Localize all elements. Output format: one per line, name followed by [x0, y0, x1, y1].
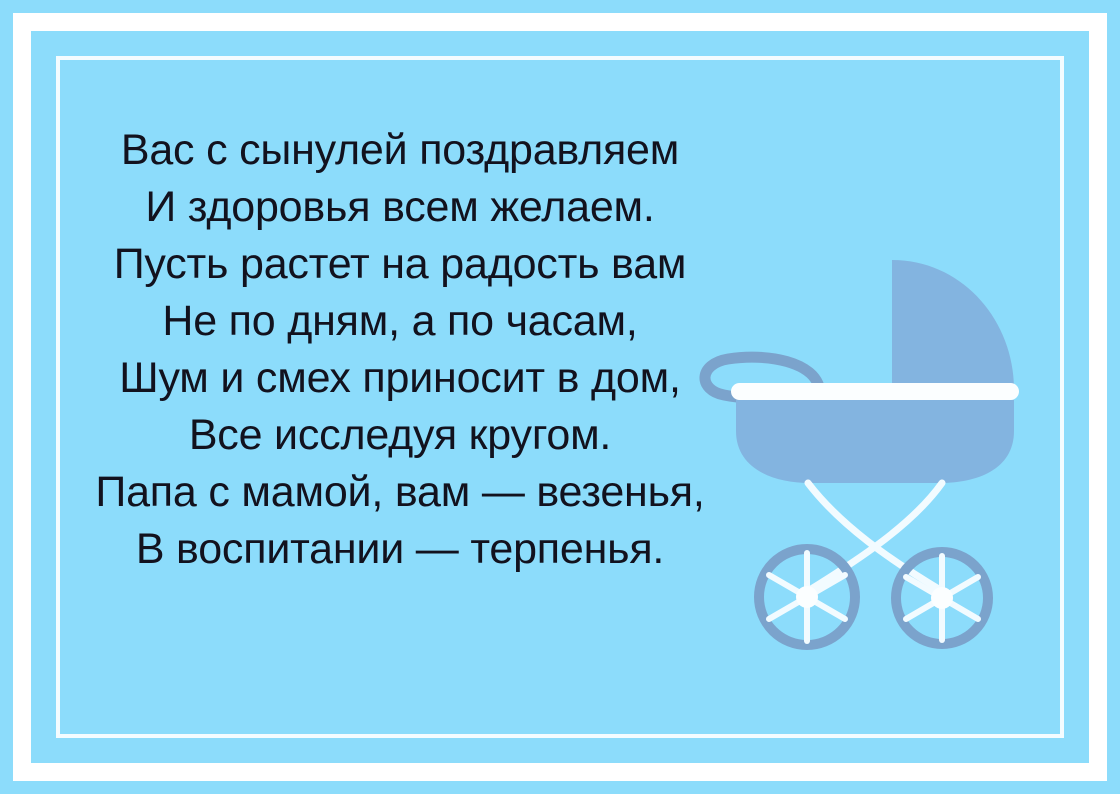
poem-line-7: Папа с мамой, вам — везенья,	[70, 464, 730, 521]
poem-line-1: Вас с сынулей поздравляем	[70, 122, 730, 179]
pram-wheel-left	[759, 549, 855, 645]
baby-pram-illustration	[690, 235, 1050, 665]
greeting-card: Вас с сынулей поздравляем И здоровья все…	[0, 0, 1120, 794]
poem-line-4: Не по дням, а по часам,	[70, 293, 730, 350]
poem-line-3: Пусть растет на радость вам	[70, 236, 730, 293]
poem-line-8: В воспитании — терпенья.	[70, 521, 730, 578]
pram-handle-bar	[731, 383, 1019, 400]
pram-hood	[892, 260, 1014, 390]
poem-line-6: Все исследуя кругом.	[70, 407, 730, 464]
poem-line-2: И здоровья всем желаем.	[70, 179, 730, 236]
poem-text-block: Вас с сынулей поздравляем И здоровья все…	[70, 122, 730, 578]
pram-body	[736, 400, 1014, 483]
pram-wheel-right	[896, 552, 988, 644]
poem-line-5: Шум и смех приносит в дом,	[70, 350, 730, 407]
